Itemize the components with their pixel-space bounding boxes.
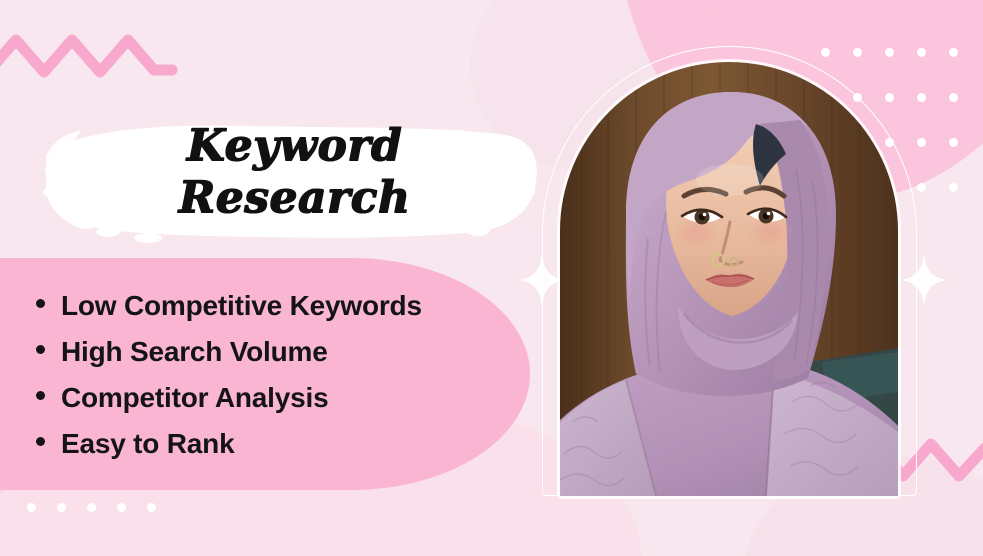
bullet-dot-icon xyxy=(36,391,45,400)
bullet-dot-icon xyxy=(36,345,45,354)
portrait-illustration xyxy=(560,62,898,496)
title-line-2: Research xyxy=(38,172,550,224)
list-item-label: Easy to Rank xyxy=(61,430,234,458)
list-item: Low Competitive Keywords xyxy=(36,292,506,320)
wave-squiggle-top-left-icon xyxy=(0,18,196,88)
title-line-1: Keyword xyxy=(186,120,402,171)
list-item-label: High Search Volume xyxy=(61,338,328,366)
portrait-photo xyxy=(560,62,898,496)
title-block: Keyword Research xyxy=(38,112,550,252)
list-item: Competitor Analysis xyxy=(36,384,506,412)
list-item-label: Competitor Analysis xyxy=(61,384,328,412)
list-item: High Search Volume xyxy=(36,338,506,366)
banner-canvas: Keyword Research Low Competitive Keyword… xyxy=(0,0,983,556)
page-title: Keyword Research xyxy=(38,120,550,224)
feature-list: Low Competitive Keywords High Search Vol… xyxy=(36,292,506,476)
bullet-dot-icon xyxy=(36,437,45,446)
list-item: Easy to Rank xyxy=(36,430,506,458)
list-item-label: Low Competitive Keywords xyxy=(61,292,422,320)
bullet-dot-icon xyxy=(36,299,45,308)
